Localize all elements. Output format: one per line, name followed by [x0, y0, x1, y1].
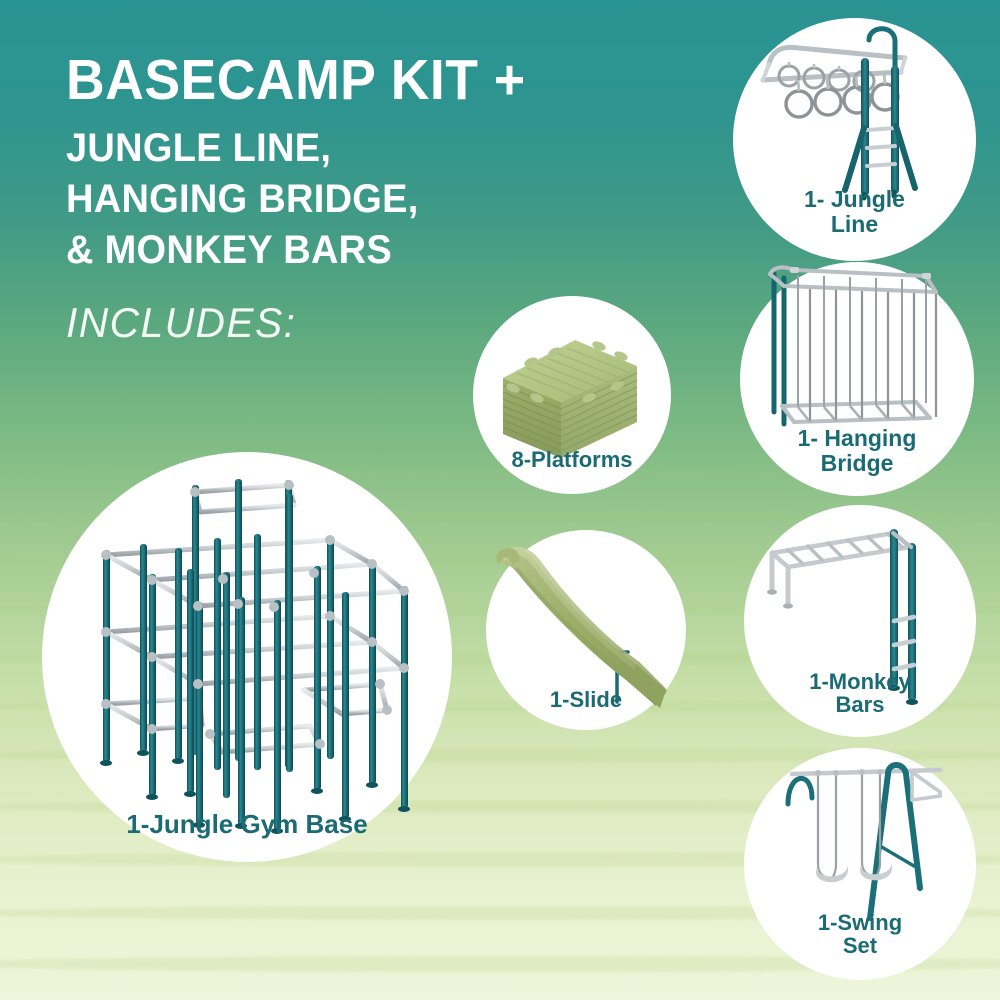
callout-jungle-line: 1- Jungle Line — [733, 18, 976, 261]
callout-platforms: 8-Platforms — [473, 296, 671, 494]
subtitle-line-1: JUNGLE LINE, — [66, 123, 655, 174]
caption-jungle-line-line1: 1- Jungle — [804, 186, 905, 212]
callout-hanging-bridge: 1- Hanging Bridge — [740, 262, 974, 496]
caption-jungle-line-line2: Line — [831, 211, 878, 237]
caption-swing-set-line2: Set — [843, 933, 877, 958]
caption-jungle-line: 1- Jungle Line — [733, 187, 976, 237]
callout-monkey-bars: 1-Monkey Bars — [744, 505, 976, 737]
caption-platforms: 8-Platforms — [473, 448, 671, 472]
subtitle-line-2: HANGING BRIDGE, — [66, 174, 655, 225]
product-infographic-poster: BASECAMP KIT + JUNGLE LINE, HANGING BRID… — [0, 0, 1000, 1000]
caption-monkey-bars-line2: Bars — [836, 692, 885, 717]
page-title: BASECAMP KIT + — [66, 52, 649, 109]
caption-hanging-bridge: 1- Hanging Bridge — [740, 426, 974, 476]
caption-hanging-bridge-line2: Bridge — [821, 450, 894, 476]
callout-jungle-gym-base: 1-Jungle Gym Base — [42, 452, 452, 862]
caption-jungle-gym-base: 1-Jungle Gym Base — [42, 810, 452, 838]
caption-swing-set-line1: 1-Swing — [818, 910, 902, 935]
caption-monkey-bars-line1: 1-Monkey — [809, 669, 910, 694]
caption-hanging-bridge-line1: 1- Hanging — [798, 425, 917, 451]
callout-slide: 1-Slide — [486, 530, 686, 730]
callout-swing-set: 1-Swing Set — [744, 748, 976, 980]
caption-slide: 1-Slide — [486, 688, 686, 712]
subtitle-line-3: & MONKEY BARS — [66, 225, 655, 276]
caption-swing-set: 1-Swing Set — [744, 911, 976, 959]
caption-monkey-bars: 1-Monkey Bars — [744, 670, 976, 718]
jungle-gym-base-illustration — [42, 452, 452, 862]
